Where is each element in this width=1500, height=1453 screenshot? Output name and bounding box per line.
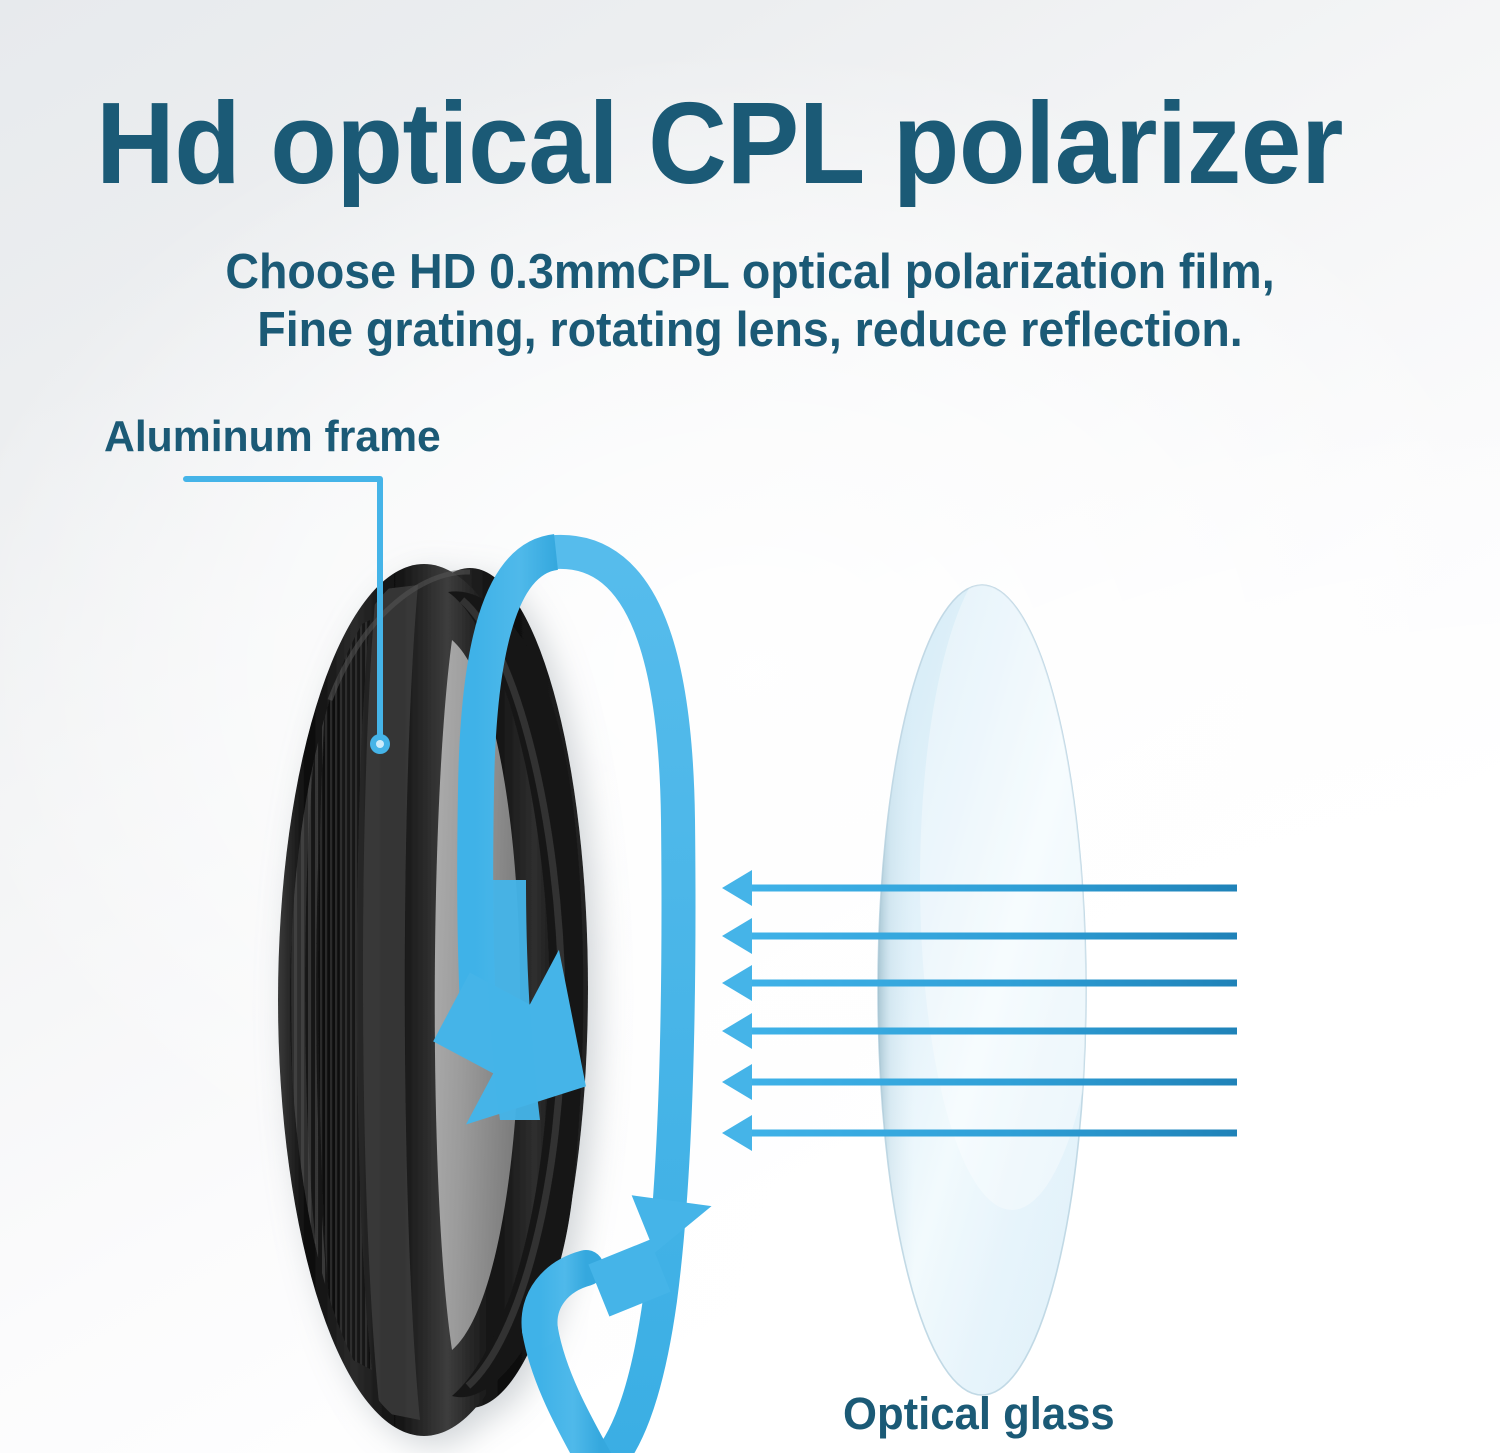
subtitle-line-2: Fine grating, rotating lens, reduce refl… <box>38 302 1463 360</box>
callout-label-aluminum-frame: Aluminum frame <box>104 412 441 462</box>
page-subtitle: Choose HD 0.3mmCPL optical polarization … <box>38 244 1463 360</box>
diagram-artwork <box>0 0 1500 1453</box>
callout-label-optical-glass: Optical glass <box>843 1388 1115 1440</box>
infographic-canvas: Hd optical CPL polarizer Choose HD 0.3mm… <box>0 0 1500 1453</box>
page-title: Hd optical CPL polarizer <box>96 82 1346 205</box>
rotation-arrow-head-up <box>570 1169 735 1316</box>
optical-glass-ellipse <box>878 550 1104 1395</box>
subtitle-line-1: Choose HD 0.3mmCPL optical polarization … <box>38 244 1463 302</box>
